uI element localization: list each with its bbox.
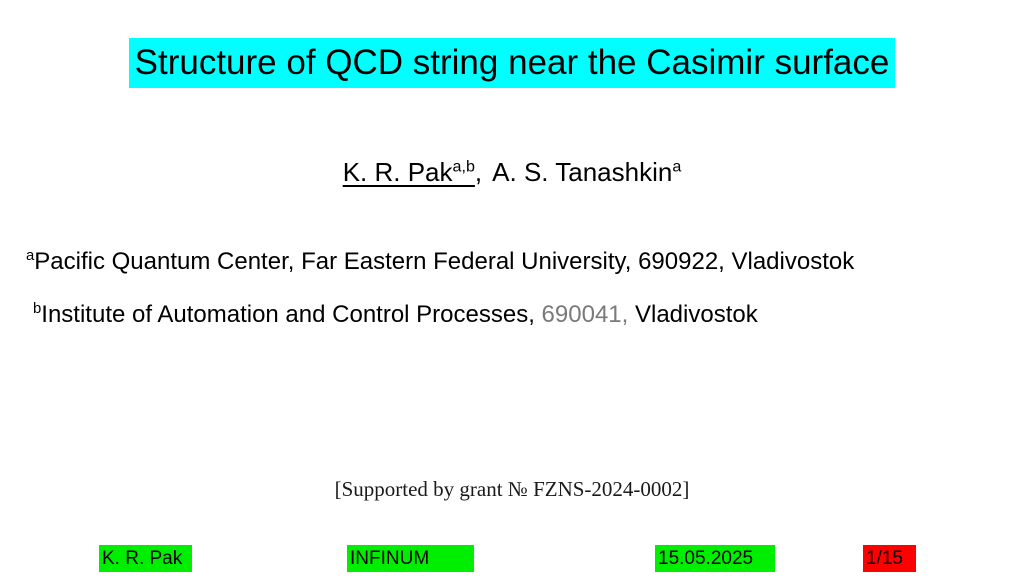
author-primary: K. R. Paka,b — [343, 157, 475, 187]
author-secondary: A. S. Tanashkina — [492, 157, 681, 187]
author-secondary-name: A. S. Tanashkin — [492, 157, 672, 187]
affiliation-a-zip: 690922, — [631, 248, 724, 275]
page-title: Structure of QCD string near the Casimir… — [129, 38, 896, 88]
footer-page-number: 1/15 — [863, 545, 916, 572]
affiliation-a: aPacific Quantum Center, Far Eastern Fed… — [26, 246, 854, 278]
affiliation-b-institution: Institute of Automation and Control Proc… — [41, 301, 535, 328]
footer-event: INFINUM — [347, 545, 474, 572]
author-separator: , — [475, 157, 482, 187]
author-primary-affiliation-marker: a,b — [453, 157, 475, 175]
title-row: Structure of QCD string near the Casimir… — [0, 38, 1024, 88]
affiliation-a-institution: Pacific Quantum Center, Far Eastern Fede… — [34, 248, 631, 275]
grant-acknowledgement: [Supported by grant № FZNS-2024-0002] — [335, 477, 690, 501]
affiliation-b-zip: 690041, — [535, 301, 628, 328]
grant-row: [Supported by grant № FZNS-2024-0002] — [0, 476, 1024, 502]
slide-footer: K. R. Pak INFINUM 15.05.2025 1/15 — [0, 545, 1024, 577]
footer-date: 15.05.2025 — [655, 545, 775, 572]
affiliation-a-city: Vladivostok — [725, 248, 854, 275]
affiliation-b: bInstitute of Automation and Control Pro… — [33, 299, 758, 331]
footer-author: K. R. Pak — [99, 545, 192, 572]
author-primary-name: K. R. Pak — [343, 157, 453, 187]
affiliation-b-city: Vladivostok — [628, 301, 757, 328]
author-secondary-affiliation-marker: a — [672, 157, 681, 175]
authors-row: K. R. Paka,b,A. S. Tanashkina — [0, 155, 1024, 189]
slide-canvas: Structure of QCD string near the Casimir… — [0, 0, 1024, 577]
